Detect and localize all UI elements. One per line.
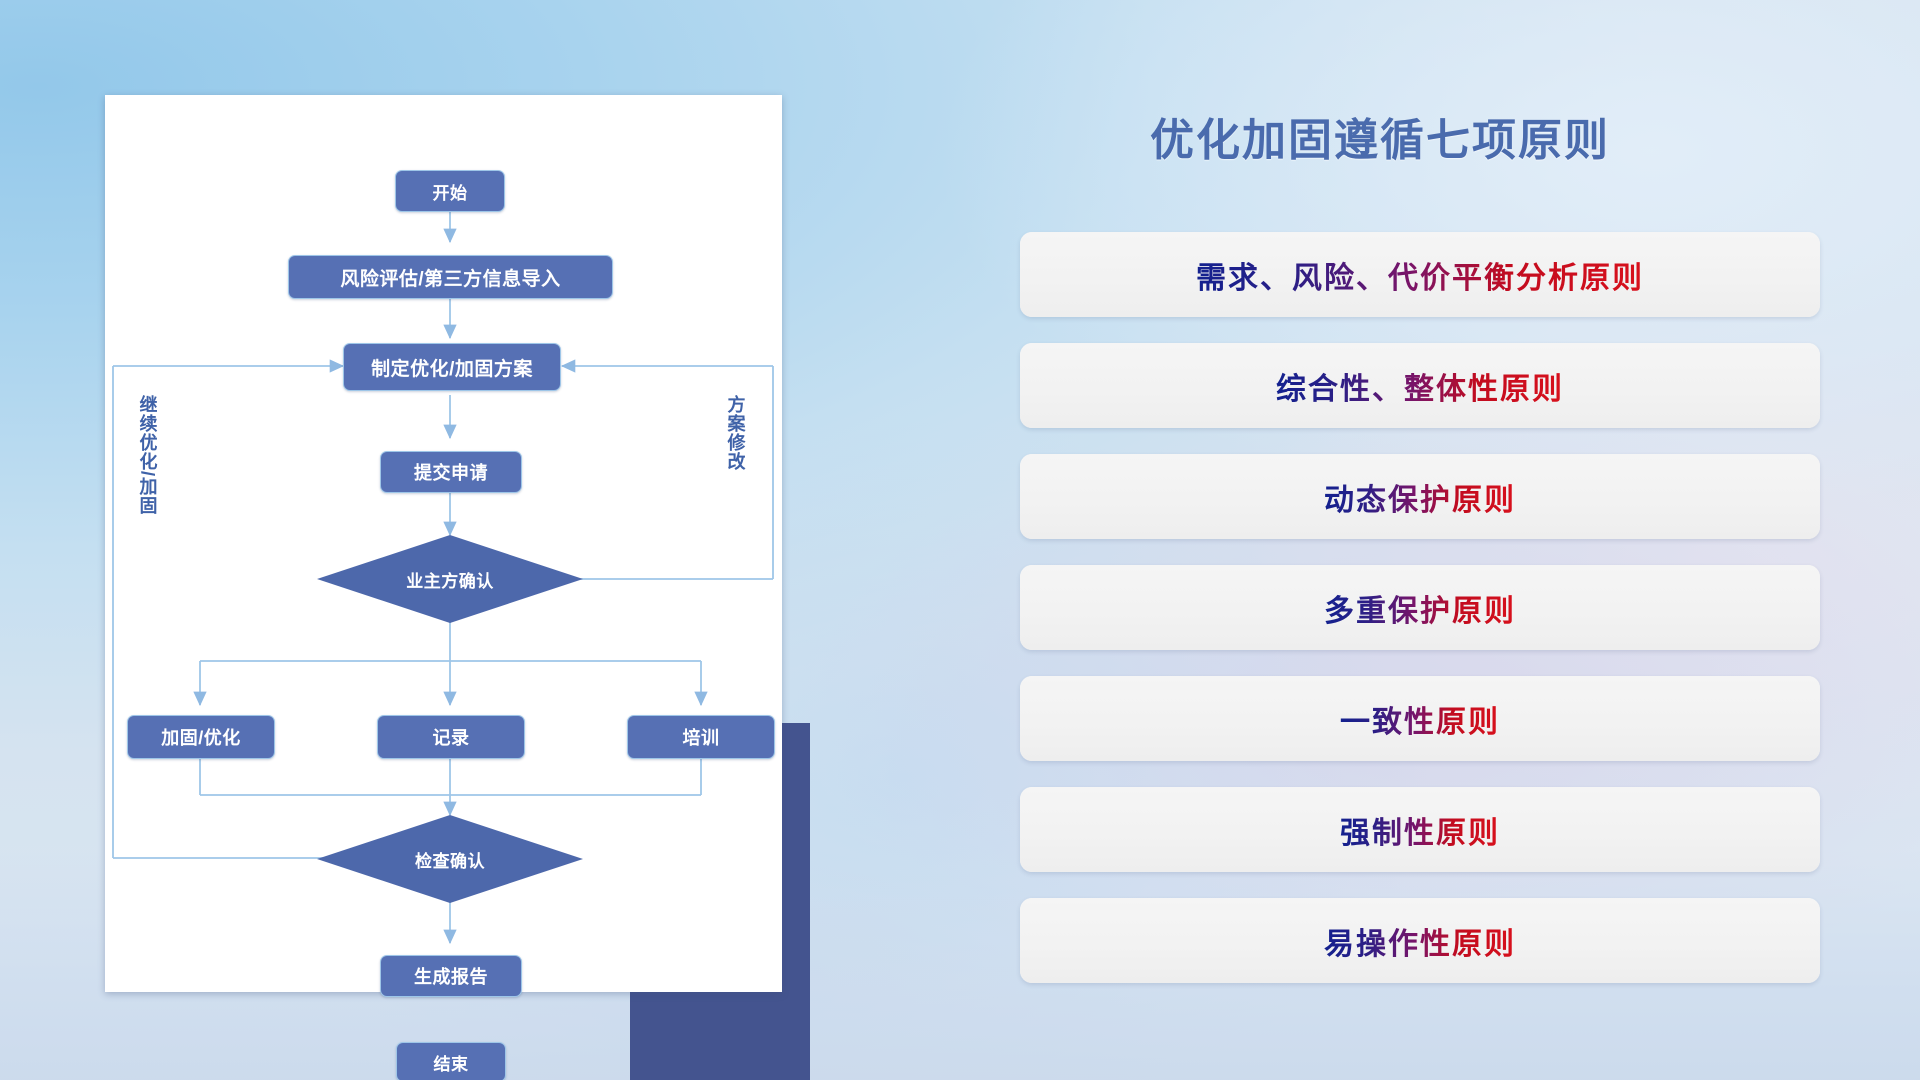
flow-node-record[interactable]: 记录	[377, 715, 525, 759]
principle-card-inner: 一致性原则	[1020, 676, 1820, 761]
principle-card-4[interactable]: 多重保护原则	[1020, 565, 1820, 650]
principle-card-6[interactable]: 强制性原则	[1020, 787, 1820, 872]
flow-node-start-label: 开始	[433, 179, 468, 204]
principle-card-2[interactable]: 综合性、整体性原则	[1020, 343, 1820, 428]
flow-node-submit-application-label: 提交申请	[414, 459, 488, 485]
principle-card-5[interactable]: 一致性原则	[1020, 676, 1820, 761]
principles-list: 需求、风险、代价平衡分析原则 综合性、整体性原则 动态保护原则 多重保护原则 一…	[1020, 232, 1820, 1009]
principle-label-5: 一致性原则	[1340, 697, 1500, 741]
flow-node-record-label: 记录	[433, 724, 470, 750]
flow-node-submit-application[interactable]: 提交申请	[380, 451, 522, 493]
flow-node-risk-assessment-label: 风险评估/第三方信息导入	[340, 264, 560, 291]
principle-card-3[interactable]: 动态保护原则	[1020, 454, 1820, 539]
flow-node-plan-label: 制定优化/加固方案	[371, 354, 533, 381]
flow-node-risk-assessment[interactable]: 风险评估/第三方信息导入	[288, 255, 613, 299]
principle-label-6: 强制性原则	[1340, 808, 1500, 852]
principle-card-inner: 综合性、整体性原则	[1020, 343, 1820, 428]
flow-node-owner-confirm[interactable]: 业主方确认	[317, 535, 583, 623]
principle-label-7: 易操作性原则	[1324, 919, 1516, 963]
flow-node-training[interactable]: 培训	[627, 715, 775, 759]
flowchart-panel: 继续优化/加固 方案修改 开始 风险评估/第三方信息导入 制定优化/加固方案 提…	[105, 95, 805, 990]
edge-label-plan-revision: 方案修改	[725, 395, 744, 471]
principle-label-2: 综合性、整体性原则	[1276, 364, 1564, 408]
flow-node-check-confirm[interactable]: 检查确认	[317, 815, 583, 903]
principle-label-4: 多重保护原则	[1324, 586, 1516, 630]
edge-label-continue-optimize: 继续优化/加固	[137, 395, 156, 515]
flow-node-check-confirm-label: 检查确认	[317, 815, 583, 903]
flow-node-plan[interactable]: 制定优化/加固方案	[343, 343, 561, 391]
flowchart-card: 继续优化/加固 方案修改 开始 风险评估/第三方信息导入 制定优化/加固方案 提…	[105, 95, 782, 992]
flowchart-canvas: 继续优化/加固 方案修改 开始 风险评估/第三方信息导入 制定优化/加固方案 提…	[105, 95, 782, 992]
principle-card-inner: 易操作性原则	[1020, 898, 1820, 983]
principle-card-inner: 强制性原则	[1020, 787, 1820, 872]
principle-card-7[interactable]: 易操作性原则	[1020, 898, 1820, 983]
flow-node-reinforce-label: 加固/优化	[161, 724, 241, 750]
principles-panel: 优化加固遵循七项原则 需求、风险、代价平衡分析原则 综合性、整体性原则 动态保护…	[1020, 96, 1840, 1016]
flow-node-owner-confirm-label: 业主方确认	[317, 535, 583, 623]
principle-card-inner: 多重保护原则	[1020, 565, 1820, 650]
flow-node-end-label: 结束	[434, 1050, 469, 1075]
flow-node-training-label: 培训	[683, 724, 720, 750]
flow-node-end[interactable]: 结束	[396, 1042, 506, 1080]
principle-card-1[interactable]: 需求、风险、代价平衡分析原则	[1020, 232, 1820, 317]
principle-label-3: 动态保护原则	[1324, 475, 1516, 519]
flow-node-generate-report[interactable]: 生成报告	[380, 955, 522, 997]
page-title: 优化加固遵循七项原则	[1150, 104, 1610, 168]
flow-node-generate-report-label: 生成报告	[414, 963, 488, 989]
flow-node-reinforce[interactable]: 加固/优化	[127, 715, 275, 759]
flow-node-start[interactable]: 开始	[395, 170, 505, 212]
principle-label-1: 需求、风险、代价平衡分析原则	[1196, 253, 1644, 297]
principle-card-inner: 动态保护原则	[1020, 454, 1820, 539]
principle-card-inner: 需求、风险、代价平衡分析原则	[1020, 232, 1820, 317]
